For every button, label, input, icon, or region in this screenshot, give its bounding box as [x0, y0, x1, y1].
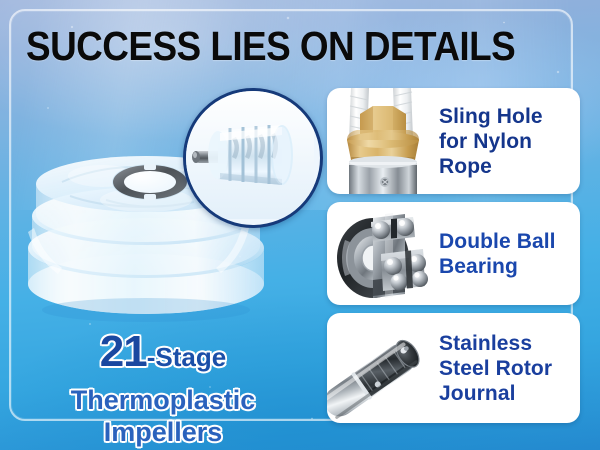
brass-cap-nylon-rope-icon — [327, 88, 439, 194]
card3-line1: Stainless — [439, 331, 572, 356]
feature-card-sling-hole[interactable]: Sling Hole for Nylon Rope — [327, 88, 580, 194]
page-title: SUCCESS LIES ON DETAILS — [26, 23, 476, 69]
stage-number: 21 — [100, 327, 147, 376]
stage-caption-line3: Impellers — [18, 416, 308, 448]
card1-line2: for Nylon — [439, 129, 572, 154]
stage-caption-line2: Thermoplastic — [18, 384, 308, 416]
card1-line3: Rope — [439, 154, 572, 179]
stage-suffix: -Stage — [147, 342, 226, 372]
card3-line2: Steel Rotor — [439, 356, 572, 381]
card2-line1: Double Ball — [439, 229, 572, 254]
card2-line2: Bearing — [439, 254, 572, 279]
stainless-rotor-journal-icon — [327, 313, 439, 423]
stage-caption-line1: 21-Stage — [18, 330, 308, 384]
product-infographic-poster: SUCCESS LIES ON DETAILS — [0, 0, 600, 450]
double-ball-bearing-icon — [327, 202, 439, 305]
card1-line1: Sling Hole — [439, 104, 572, 129]
stage-caption: 21-Stage Thermoplastic Impellers — [18, 330, 308, 448]
magnifier-circle — [183, 88, 323, 228]
feature-card-sling-hole-label: Sling Hole for Nylon Rope — [439, 104, 580, 179]
feature-card-rotor-journal-label: Stainless Steel Rotor Journal — [439, 331, 580, 406]
feature-card-double-ball-bearing-label: Double Ball Bearing — [439, 229, 580, 279]
feature-card-rotor-journal[interactable]: Stainless Steel Rotor Journal — [327, 313, 580, 423]
card3-line3: Journal — [439, 381, 572, 406]
feature-card-double-ball-bearing[interactable]: Double Ball Bearing — [327, 202, 580, 305]
